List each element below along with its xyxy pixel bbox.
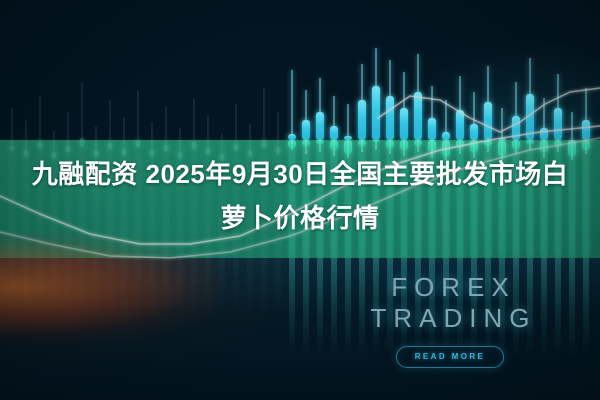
forex-promo-block: FOREX TRADING READ MORE bbox=[300, 272, 600, 368]
title-line-2: 萝卜价格行情 bbox=[0, 196, 600, 240]
forex-banner: 九融配资 2025年9月30日全国主要批发市场白 萝卜价格行情 FOREX TR… bbox=[0, 0, 600, 400]
title-line-1: 九融配资 2025年9月30日全国主要批发市场白 bbox=[0, 152, 600, 196]
read-more-button[interactable]: READ MORE bbox=[396, 346, 505, 368]
page-title: 九融配资 2025年9月30日全国主要批发市场白 萝卜价格行情 bbox=[0, 152, 600, 240]
forex-heading: FOREX TRADING bbox=[300, 272, 600, 334]
